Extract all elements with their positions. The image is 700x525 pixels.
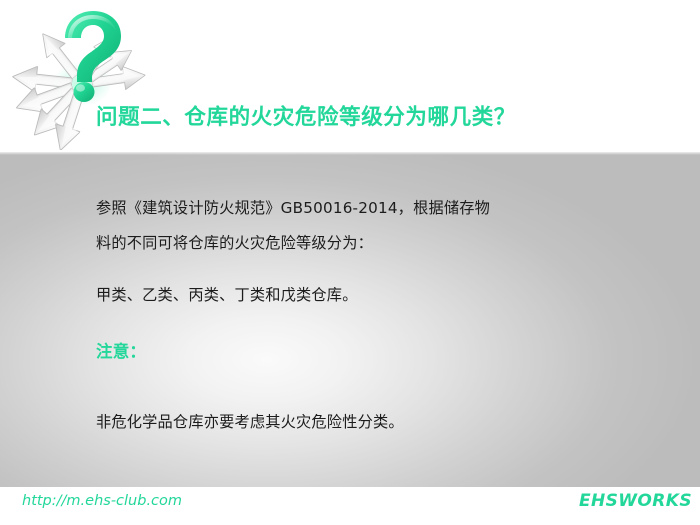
footer-website-link[interactable]: http://m.ehs-club.com: [22, 493, 182, 509]
body-line-3-categories: 甲类、乙类、丙类、丁类和戊类仓库。: [96, 288, 358, 303]
body-line-2: 料的不同可将仓库的火灾危险等级分为：: [96, 236, 373, 251]
page-title: 问题二、仓库的火灾危险等级分为哪几类？: [96, 100, 676, 131]
body-line-1: 参照《建筑设计防火规范》GB50016-2014，根据储存物: [96, 201, 490, 216]
slide-footer: http://m.ehs-club.com EHSWORKS: [0, 487, 700, 525]
slide-canvas: 问题二、仓库的火灾危险等级分为哪几类？ 参照《建筑设计防火规范》GB50016-…: [0, 0, 700, 525]
body-note-text: 非危化学品仓库亦要考虑其火灾危险性分类。: [96, 415, 404, 430]
footer-brand-logo: EHSWORKS: [579, 491, 692, 511]
slide-body-panel: 参照《建筑设计防火规范》GB50016-2014，根据储存物 料的不同可将仓库的…: [0, 152, 700, 487]
slide-header: 问题二、仓库的火灾危险等级分为哪几类？: [0, 0, 700, 152]
body-note-heading: 注意：: [96, 344, 146, 361]
